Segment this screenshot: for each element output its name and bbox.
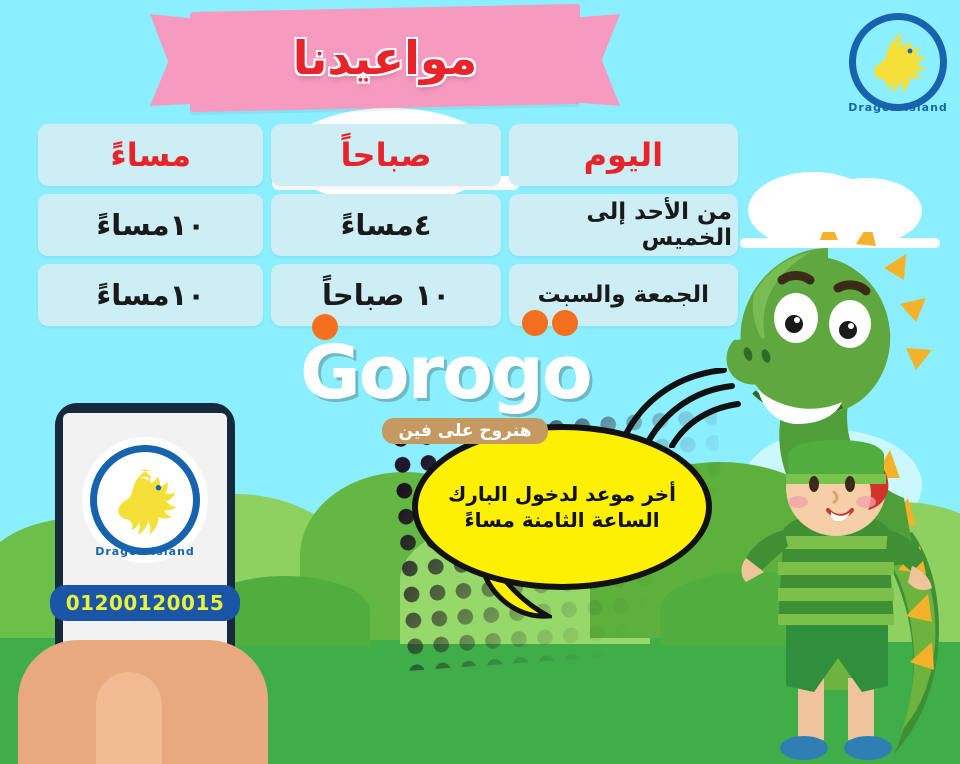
notice-line-1: أخر موعد لدخول البارك: [448, 481, 676, 507]
phone-number: 01200120015: [50, 585, 241, 621]
table-row: من الأحد إلى الخميس ٤مساءً ١٠مساءً: [38, 194, 738, 256]
boy-character: [736, 440, 936, 764]
notice-speech-bubble: أخر موعد لدخول البارك الساعة الثامنة مسا…: [412, 424, 712, 590]
watermark-dot-2: [522, 310, 548, 336]
logo-ring: [849, 13, 948, 112]
table-header-row: اليوم صباحاً مساءً: [38, 124, 738, 186]
watermark-tagline: هنروح على فين: [382, 418, 547, 444]
page-title: مواعيدنا: [150, 8, 620, 108]
header-evening: مساءً: [38, 124, 263, 186]
cell-evening: ١٠مساءً: [38, 194, 263, 256]
watermark-word: Gorogo: [300, 330, 630, 416]
watermark-dot-1: [312, 314, 338, 340]
table-row: الجمعة والسبت ١٠ صباحاً ١٠مساءً: [38, 264, 738, 326]
poster-canvas: Dragon Island مواعيدنا اليوم صباحاً مساء…: [0, 0, 960, 764]
logo-brand-name: Dragon Island: [842, 101, 954, 114]
shoe-left: [780, 736, 828, 760]
motion-swoosh-lines: [620, 368, 750, 448]
cell-day: من الأحد إلى الخميس: [509, 194, 738, 256]
phone-speaker: [123, 407, 167, 412]
watermark: Gorogo هنروح على فين: [300, 330, 630, 444]
brand-logo-top-right: Dragon Island: [842, 6, 954, 118]
logo-brand-name: Dragon Island: [82, 545, 208, 558]
header-day: اليوم: [509, 124, 738, 186]
cell-morning: ١٠ صباحاً: [271, 264, 500, 326]
shoe-right: [844, 736, 892, 760]
schedule-table: اليوم صباحاً مساءً من الأحد إلى الخميس ٤…: [38, 124, 738, 334]
thumb: [96, 672, 162, 764]
watermark-dot-3: [552, 310, 578, 336]
notice-line-2: الساعة الثامنة مساءً: [464, 507, 659, 533]
title-ribbon: مواعيدنا: [150, 8, 620, 116]
brand-logo-phone: Dragon Island: [82, 437, 208, 563]
header-morning: صباحاً: [271, 124, 500, 186]
cell-morning: ٤مساءً: [271, 194, 500, 256]
cell-evening: ١٠مساءً: [38, 264, 263, 326]
logo-ring: [90, 445, 201, 556]
